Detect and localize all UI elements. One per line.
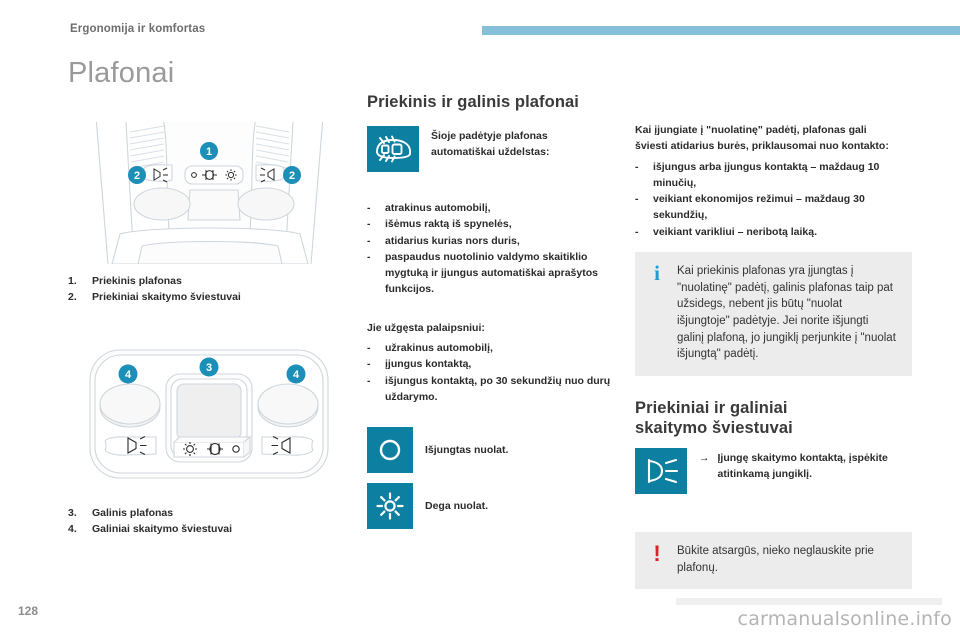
info-icon: i: [647, 263, 667, 363]
list-item: -paspaudus nuotolinio valdymo skaitiklio…: [367, 249, 617, 298]
caption-label: Priekinis plafonas: [92, 273, 182, 289]
list-item-text: išjungus arba įjungus kontaktą – maždaug…: [653, 159, 912, 192]
dash-marker: -: [635, 224, 653, 240]
list-item: -veikiant ekonomijos režimui – maždaug 3…: [635, 191, 912, 224]
left-column: 1 2 2 1. Priekinis plafonas 2. Priekinia…: [68, 122, 351, 537]
list-item: -išjungus kontaktą, po 30 sekundžių nuo …: [367, 373, 617, 406]
front-console-caption-list: 1. Priekinis plafonas 2. Priekiniai skai…: [68, 273, 351, 306]
caption-number: 3.: [68, 505, 92, 521]
reading-lamp-picto-row: → Įjungę skaitymo kontaktą, įspėkite ati…: [635, 448, 912, 494]
svg-text:4: 4: [125, 369, 132, 381]
list-item-text: veikiant varikliui – neribotą laiką.: [653, 224, 817, 240]
dash-marker: -: [367, 249, 385, 298]
car-ceiling-light-icon: [367, 126, 419, 172]
permanent-mode-duration-list: -išjungus arba įjungus kontaktą – maždau…: [635, 159, 912, 240]
circle-icon: [367, 427, 413, 473]
svg-text:3: 3: [206, 362, 212, 374]
list-item: -įjungus kontaktą,: [367, 356, 617, 372]
section-title-reading-lamps: Priekiniai ir galiniai skaitymo šviestuv…: [635, 398, 912, 438]
list-item: -veikiant varikliui – neribotą laiką.: [635, 224, 912, 240]
picto-text-line-1: Įjungę skaitymo kontaktą, įspėkite: [718, 452, 888, 464]
reading-lamp-picto-text: → Įjungę skaitymo kontaktą, įspėkite ati…: [699, 448, 912, 483]
reading-lamp-icon: [635, 448, 687, 494]
list-item: -atrakinus automobilį,: [367, 200, 617, 216]
dash-marker: -: [367, 356, 385, 372]
intro-line-1: Kai įjungiate į "nuolatinę" padėtį, plaf…: [635, 122, 912, 138]
caption-number: 4.: [68, 521, 92, 537]
dash-marker: -: [367, 233, 385, 249]
section-title-line-1: Priekiniai ir galiniai: [635, 399, 788, 417]
list-item-text: užrakinus automobilį,: [385, 340, 493, 356]
list-item-text: išėmus raktą iš spynelės,: [385, 216, 512, 232]
svg-text:2: 2: [134, 170, 140, 182]
section-title-front-rear-ceiling-lights: Priekinis ir galinis plafonai: [367, 92, 617, 112]
page-title: Plafonai: [68, 57, 174, 90]
caption-number: 2.: [68, 289, 92, 305]
rear-ceiling-console-figure: 3 4 4: [68, 324, 351, 496]
list-item-text: įjungus kontaktą,: [385, 356, 471, 372]
legend-label: Išjungtas nuolat.: [425, 444, 508, 456]
sun-icon: [367, 483, 413, 529]
picto-text-line-2: automatiškai uždelstas:: [431, 145, 549, 161]
right-column: Kai įjungiate į "nuolatinę" padėtį, plaf…: [635, 122, 912, 589]
dash-marker: -: [635, 159, 653, 192]
chapter-label: Ergonomija ir komfortas: [70, 23, 205, 35]
ceiling-light-picto-row: Šioje padėtyje plafonas automatiškai užd…: [367, 126, 617, 172]
picto-text-line-1: Šioje padėtyje plafonas: [431, 129, 549, 145]
dash-marker: -: [367, 373, 385, 406]
caption-label: Galiniai skaitymo šviestuvai: [92, 521, 232, 537]
picto-text-line-2: atitinkamą jungiklį.: [718, 468, 813, 480]
list-item: 2. Priekiniai skaitymo šviestuvai: [68, 289, 351, 305]
ceiling-light-picto-text: Šioje padėtyje plafonas automatiškai užd…: [431, 126, 549, 161]
front-ceiling-console-figure: 1 2 2: [68, 122, 351, 264]
list-item-text: atidarius kurias nors duris,: [385, 233, 520, 249]
list-item-text: veikiant ekonomijos režimui – maždaug 30…: [653, 191, 912, 224]
fade-out-lead: Jie užgęsta palaipsniui:: [367, 320, 617, 336]
page-header: Ergonomija ir komfortas: [0, 0, 960, 48]
arrow-icon: →: [699, 451, 710, 483]
intro-line-2: šviesti atidarius burės, priklausomai nu…: [635, 138, 912, 154]
svg-text:2: 2: [289, 170, 295, 182]
list-item: 1. Priekinis plafonas: [68, 273, 351, 289]
page-number: 128: [18, 604, 38, 618]
svg-text:4: 4: [293, 369, 300, 381]
section-title-line-2: skaitymo šviestuvai: [635, 419, 793, 437]
legend-row-off-permanently: Išjungtas nuolat.: [367, 427, 617, 473]
list-item: 3. Galinis plafonas: [68, 505, 351, 521]
caption-label: Galinis plafonas: [92, 505, 173, 521]
list-item: -išjungus arba įjungus kontaktą – maždau…: [635, 159, 912, 192]
warning-icon: !: [647, 543, 667, 576]
caption-label: Priekiniai skaitymo šviestuvai: [92, 289, 241, 305]
watermark: carmanualsonline.info: [738, 608, 952, 630]
info-notice-text: Kai priekinis plafonas yra įjungtas į "n…: [677, 263, 898, 363]
rear-console-caption-list: 3. Galinis plafonas 4. Galiniai skaitymo…: [68, 505, 351, 538]
list-item: 4. Galiniai skaitymo šviestuvai: [68, 521, 351, 537]
header-accent-bar: [482, 26, 960, 35]
watermark-bar: [676, 598, 942, 605]
dash-marker: -: [367, 216, 385, 232]
ceiling-light-activation-list: -atrakinus automobilį, -išėmus raktą iš …: [367, 200, 617, 298]
svg-text:1: 1: [206, 146, 212, 158]
caption-number: 1.: [68, 273, 92, 289]
list-item: -atidarius kurias nors duris,: [367, 233, 617, 249]
list-item-text: atrakinus automobilį,: [385, 200, 491, 216]
middle-column: Priekinis ir galinis plafonai Šioje padė…: [367, 92, 617, 539]
permanent-mode-intro: Kai įjungiate į "nuolatinę" padėtį, plaf…: [635, 122, 912, 155]
legend-row-on-permanently: Dega nuolat.: [367, 483, 617, 529]
list-item: -išėmus raktą iš spynelės,: [367, 216, 617, 232]
warning-notice-box: ! Būkite atsargūs, nieko neglauskite pri…: [635, 532, 912, 589]
info-notice-box: i Kai priekinis plafonas yra įjungtas į …: [635, 252, 912, 376]
ceiling-light-fadeout-list: -užrakinus automobilį, -įjungus kontaktą…: [367, 340, 617, 405]
dash-marker: -: [367, 200, 385, 216]
legend-label: Dega nuolat.: [425, 500, 488, 512]
warning-notice-text: Būkite atsargūs, nieko neglauskite prie …: [677, 543, 898, 576]
list-item-text: išjungus kontaktą, po 30 sekundžių nuo d…: [385, 373, 617, 406]
list-item: -užrakinus automobilį,: [367, 340, 617, 356]
list-item-text: paspaudus nuotolinio valdymo skaitiklio …: [385, 249, 617, 298]
dash-marker: -: [367, 340, 385, 356]
dash-marker: -: [635, 191, 653, 224]
